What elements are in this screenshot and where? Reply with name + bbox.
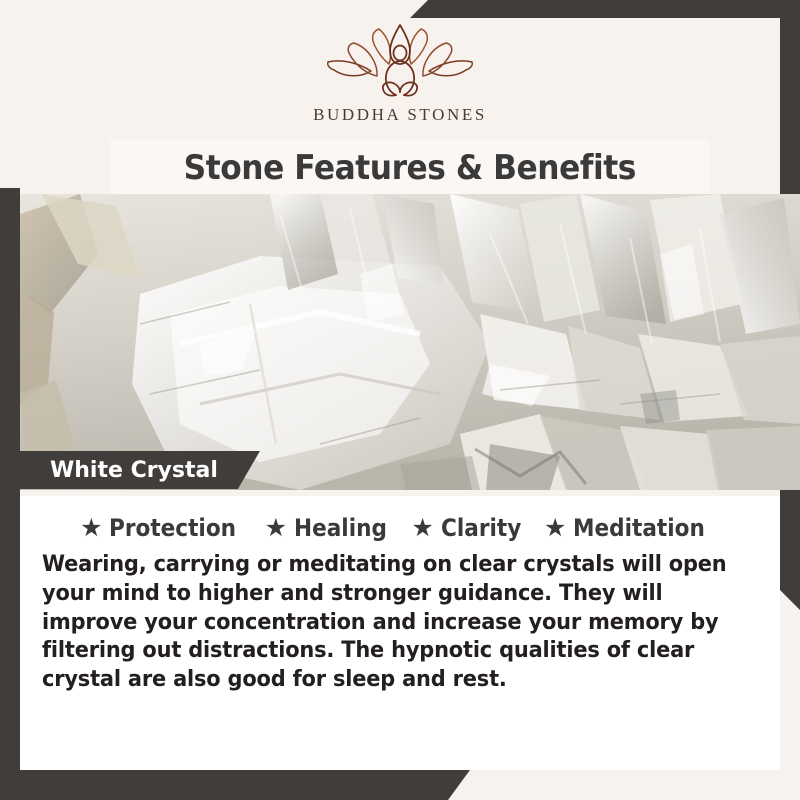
- page-title: Stone Features & Benefits: [184, 148, 636, 188]
- brand-header: BUDDHA STONES: [0, 0, 800, 142]
- benefit-label-clarity: Clarity: [441, 514, 521, 542]
- benefits-list: ★ Protection ★ Healing ★ Clarity ★ Medit…: [42, 514, 758, 542]
- lotus-meditation-logo-icon: [325, 22, 475, 100]
- description-text: Wearing, carrying or meditating on clear…: [42, 550, 754, 694]
- brand-name: BUDDHA STONES: [313, 105, 487, 125]
- stone-benefits-infographic: BUDDHA STONES Stone Features & Benefits: [0, 0, 800, 800]
- benefit-label-meditation: Meditation: [573, 514, 705, 542]
- star-icon: ★: [80, 516, 102, 541]
- benefit-label-protection: Protection: [109, 514, 236, 542]
- benefit-item-protection: ★ Protection: [80, 514, 251, 542]
- benefit-label-healing: Healing: [294, 514, 387, 542]
- page-title-band: Stone Features & Benefits: [110, 140, 710, 196]
- benefit-item-clarity: ★ Clarity: [411, 514, 530, 542]
- star-icon: ★: [411, 516, 433, 541]
- photo-caption-label: White Crystal: [50, 458, 218, 483]
- benefits-panel: ★ Protection ★ Healing ★ Clarity ★ Medit…: [20, 496, 780, 770]
- benefit-item-meditation: ★ Meditation: [544, 514, 720, 542]
- star-icon: ★: [265, 516, 287, 541]
- decoration-left-strip: [0, 188, 20, 770]
- photo-caption-badge: White Crystal: [20, 451, 260, 489]
- decoration-bottom-left-bar: [0, 770, 470, 800]
- star-icon: ★: [544, 516, 566, 541]
- benefit-item-healing: ★ Healing: [265, 514, 398, 542]
- white-crystal-cluster-photo: [20, 194, 800, 490]
